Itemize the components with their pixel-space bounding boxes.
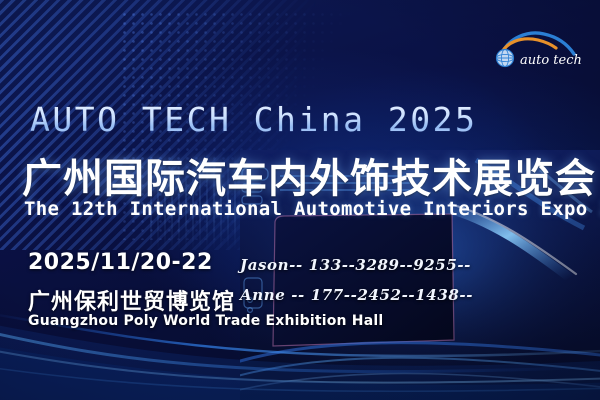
page-title-english: AUTO TECH China 2025 xyxy=(30,100,477,139)
contact-jason: Jason-- 133--3289--9255-- xyxy=(240,256,471,274)
logo-wordmark: auto tech xyxy=(520,53,582,68)
page-title-chinese: 广州国际汽车内外饰技术展览会 xyxy=(22,146,596,204)
auto-tech-logo[interactable]: auto tech xyxy=(482,24,586,72)
auto-tech-china-2025-banner: auto tech AUTO TECH China 2025 广州国际汽车内外饰… xyxy=(0,0,600,400)
venue-name-chinese: 广州保利世贸博览馆 xyxy=(28,284,235,316)
venue-name-english: Guangzhou Poly World Trade Exhibition Ha… xyxy=(28,313,383,329)
subtitle-english: The 12th International Automotive Interi… xyxy=(24,198,600,220)
event-date: 2025/11/20-22 xyxy=(28,250,213,275)
contact-anne: Anne -- 177--2452--1438-- xyxy=(240,286,473,304)
